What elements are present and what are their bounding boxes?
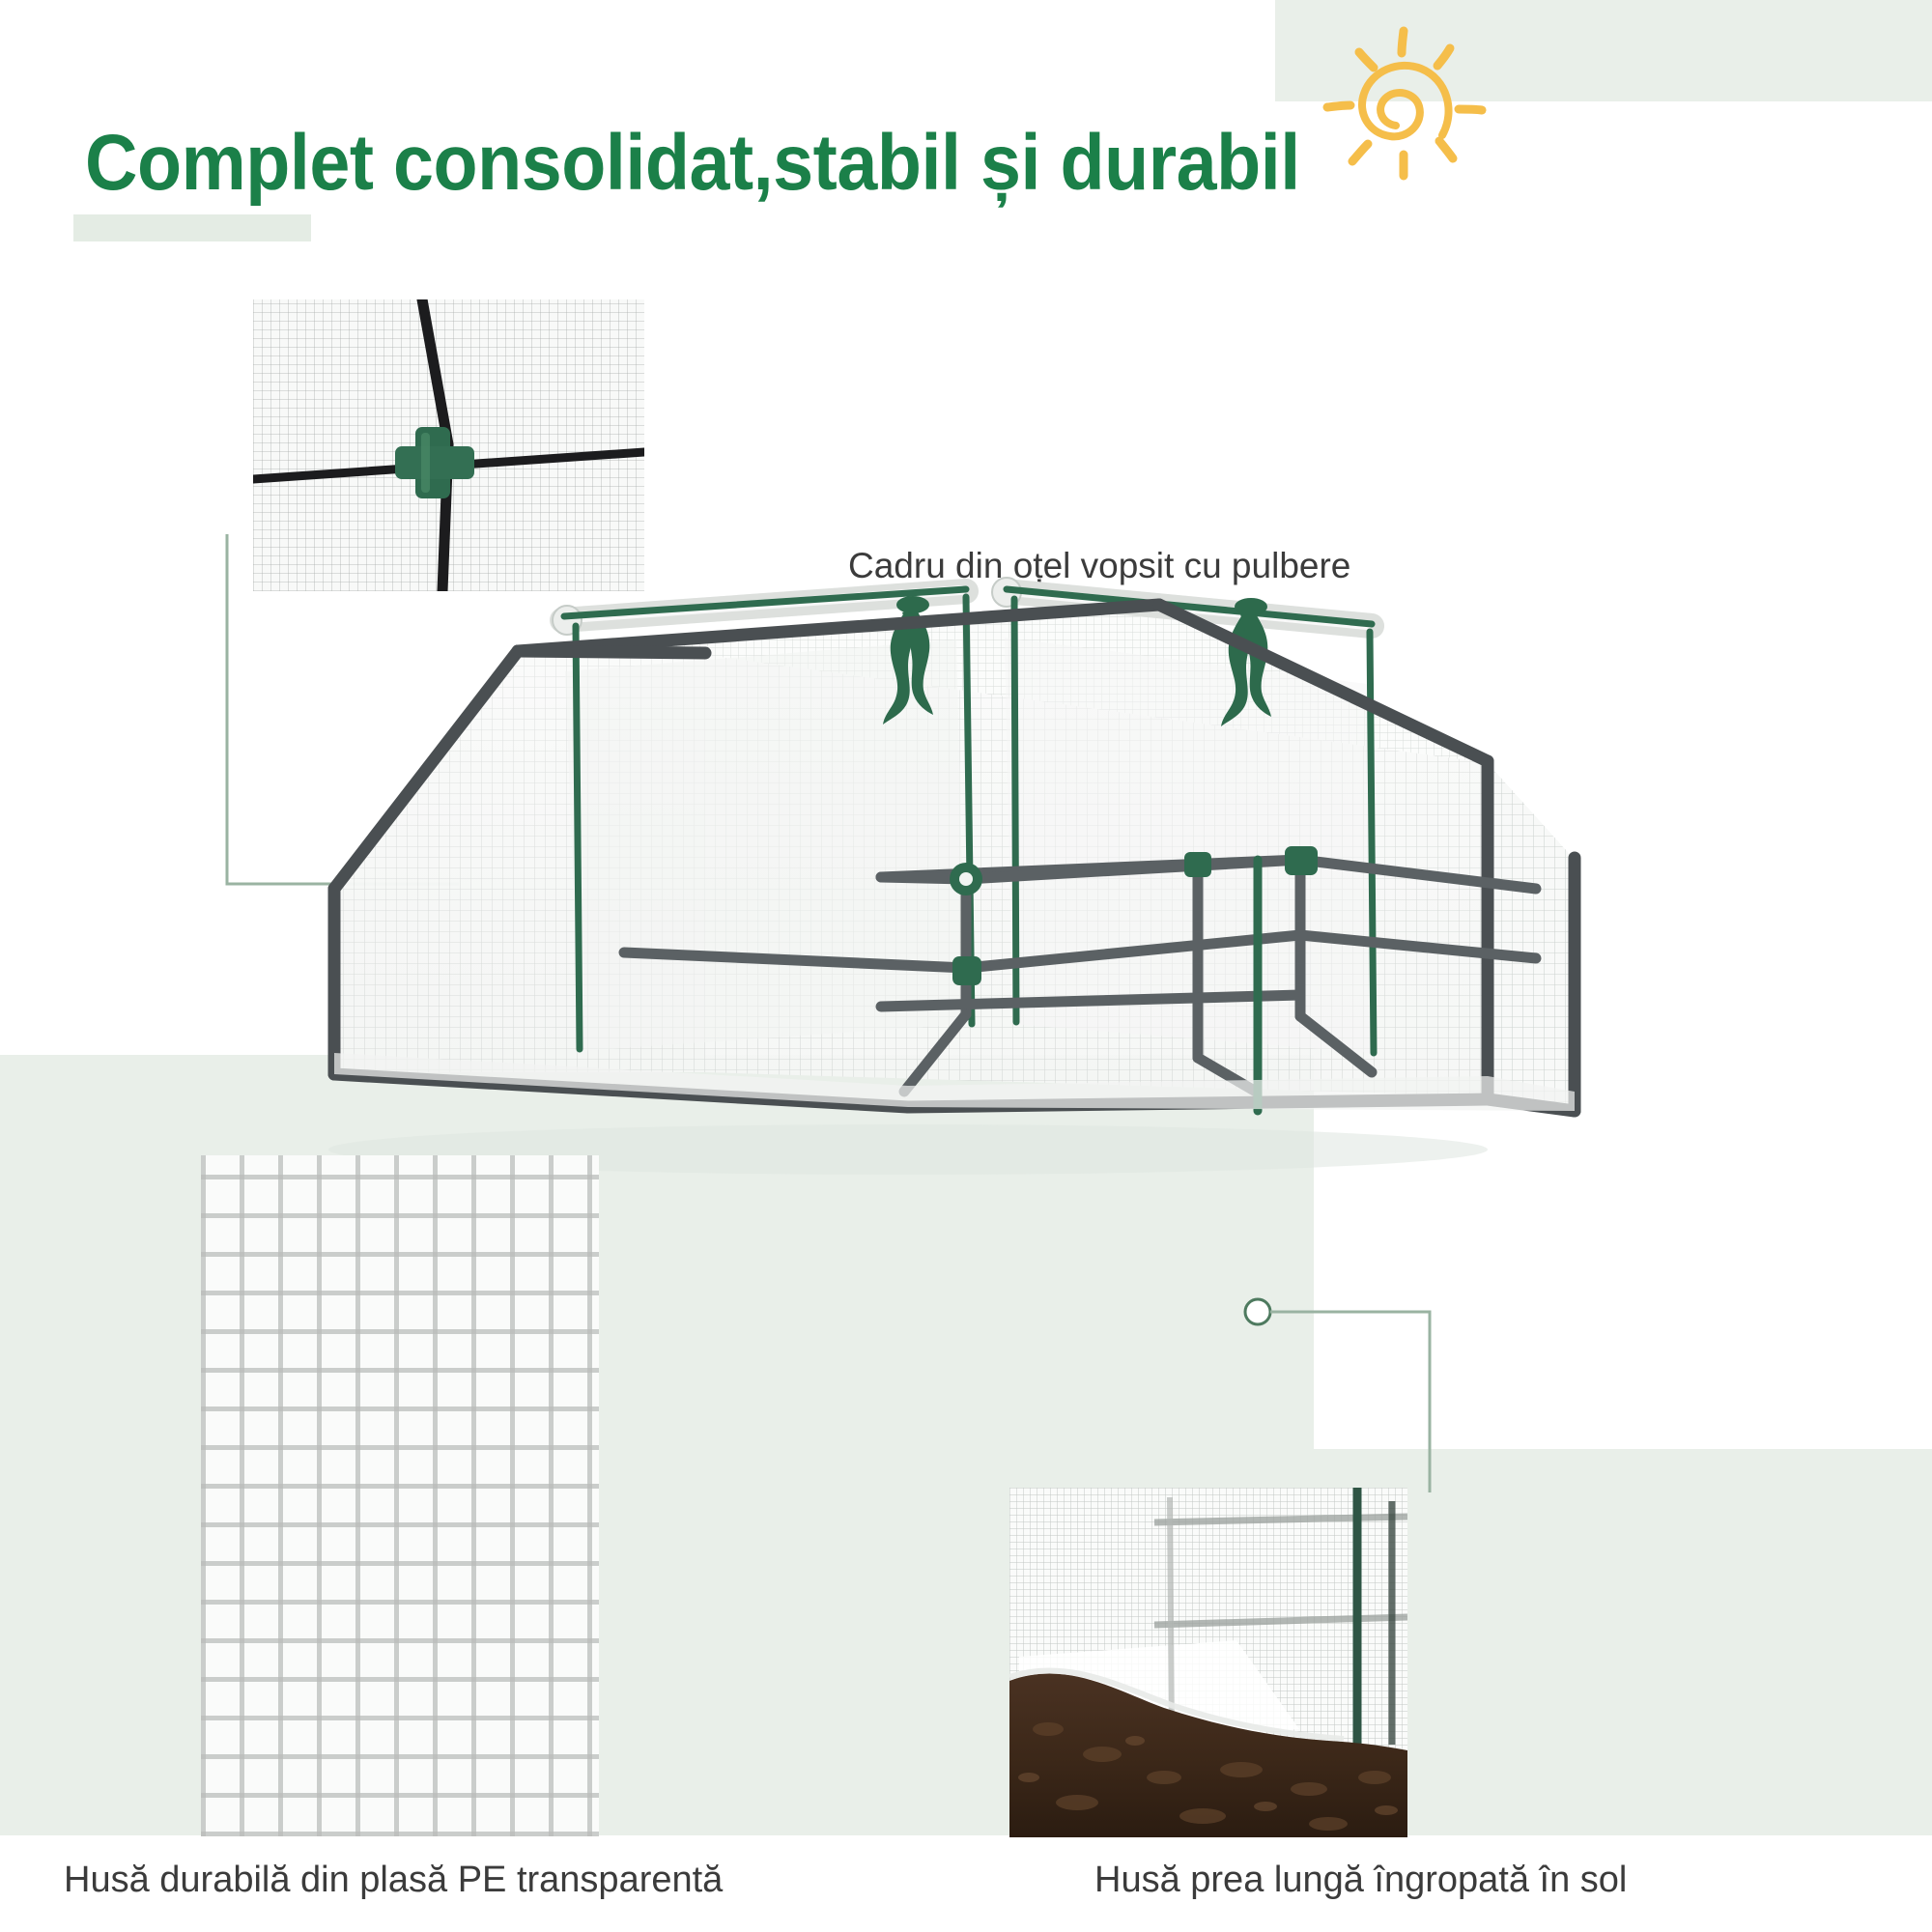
caption-buried-cover: Husă prea lungă îngropată în sol [1094,1860,1627,1901]
infographic-canvas: Complet consolidat,stabil și durabil [0,0,1932,1932]
mini-greenhouse-illustration [290,570,1604,1179]
page-title: Complet consolidat,stabil și durabil [85,124,1300,203]
cover-buried-in-soil-photo [1009,1488,1407,1837]
title-accent-bar [73,214,311,241]
sun-spiral-icon [1306,12,1499,185]
pe-mesh-texture-photo [201,1155,599,1836]
caption-pe-mesh-cover: Husă durabilă din plasă PE transparentă [64,1860,723,1901]
